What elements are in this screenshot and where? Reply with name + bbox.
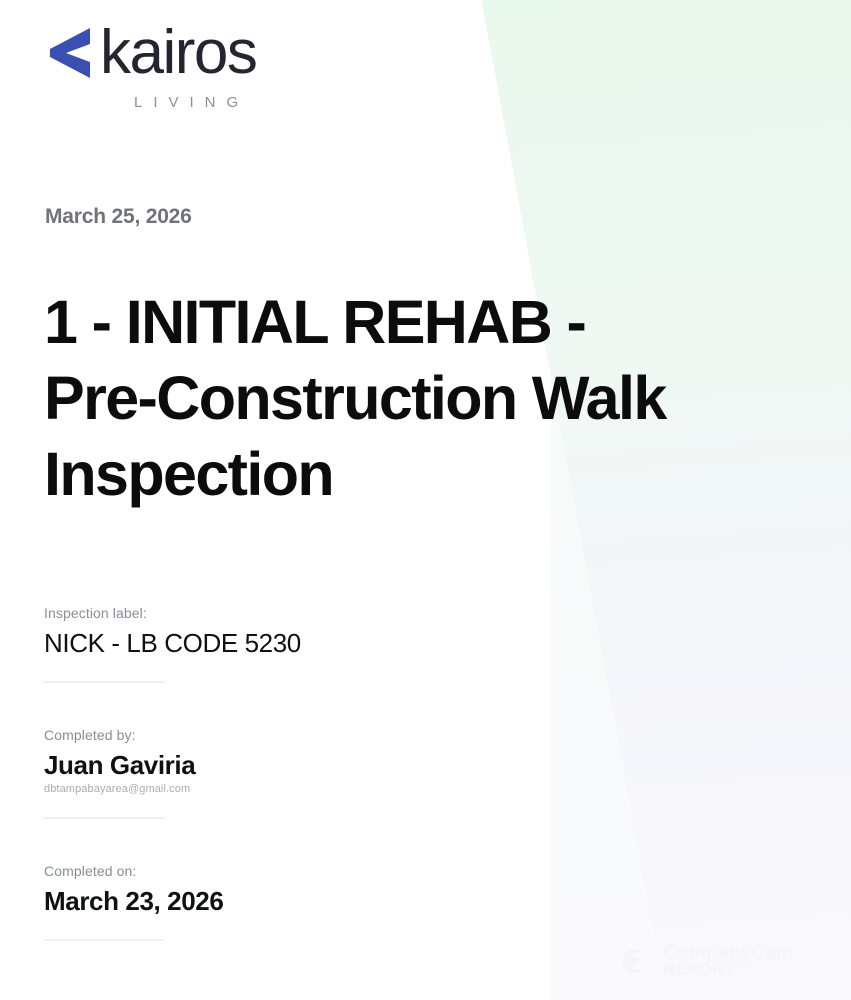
- completed-on-value: March 23, 2026: [44, 885, 564, 917]
- spacer: [44, 839, 564, 863]
- watermark: CompanyCam REPORT: [619, 944, 793, 978]
- inspection-cover-page: kairos LIVING March 25, 2026 1 - INITIAL…: [0, 0, 851, 1000]
- divider: [44, 817, 164, 819]
- camera-icon: [619, 944, 653, 978]
- field-completed-on: Completed on: March 23, 2026: [44, 863, 564, 917]
- chevron-left-icon: [46, 26, 94, 80]
- completed-on-label: Completed on:: [44, 863, 564, 879]
- document-date: March 25, 2026: [45, 205, 192, 229]
- brand-wordmark: kairos: [100, 22, 256, 84]
- inspection-label-value: NICK - LB CODE 5230: [44, 627, 564, 659]
- completed-by-label: Completed by:: [44, 727, 564, 743]
- divider: [44, 939, 164, 941]
- watermark-text: CompanyCam REPORT: [663, 944, 793, 978]
- field-inspection-label: Inspection label: NICK - LB CODE 5230: [44, 605, 564, 659]
- logo-row: kairos: [46, 22, 256, 84]
- brand-logo: kairos LIVING: [46, 22, 256, 111]
- divider: [44, 681, 164, 683]
- spacer: [44, 703, 564, 727]
- brand-tagline: LIVING: [134, 94, 256, 111]
- watermark-line-1: CompanyCam: [663, 944, 793, 961]
- completed-by-value: Juan Gaviria: [44, 749, 564, 781]
- watermark-line-2: REPORT: [663, 961, 793, 978]
- inspection-label-label: Inspection label:: [44, 605, 564, 621]
- metadata-list: Inspection label: NICK - LB CODE 5230 Co…: [44, 605, 564, 961]
- field-completed-by: Completed by: Juan Gaviria dbtampabayare…: [44, 727, 564, 795]
- completed-by-email: dbtampabayarea@gmail.com: [44, 783, 564, 795]
- page-title: 1 - INITIAL REHAB - Pre-Construction Wal…: [44, 284, 704, 512]
